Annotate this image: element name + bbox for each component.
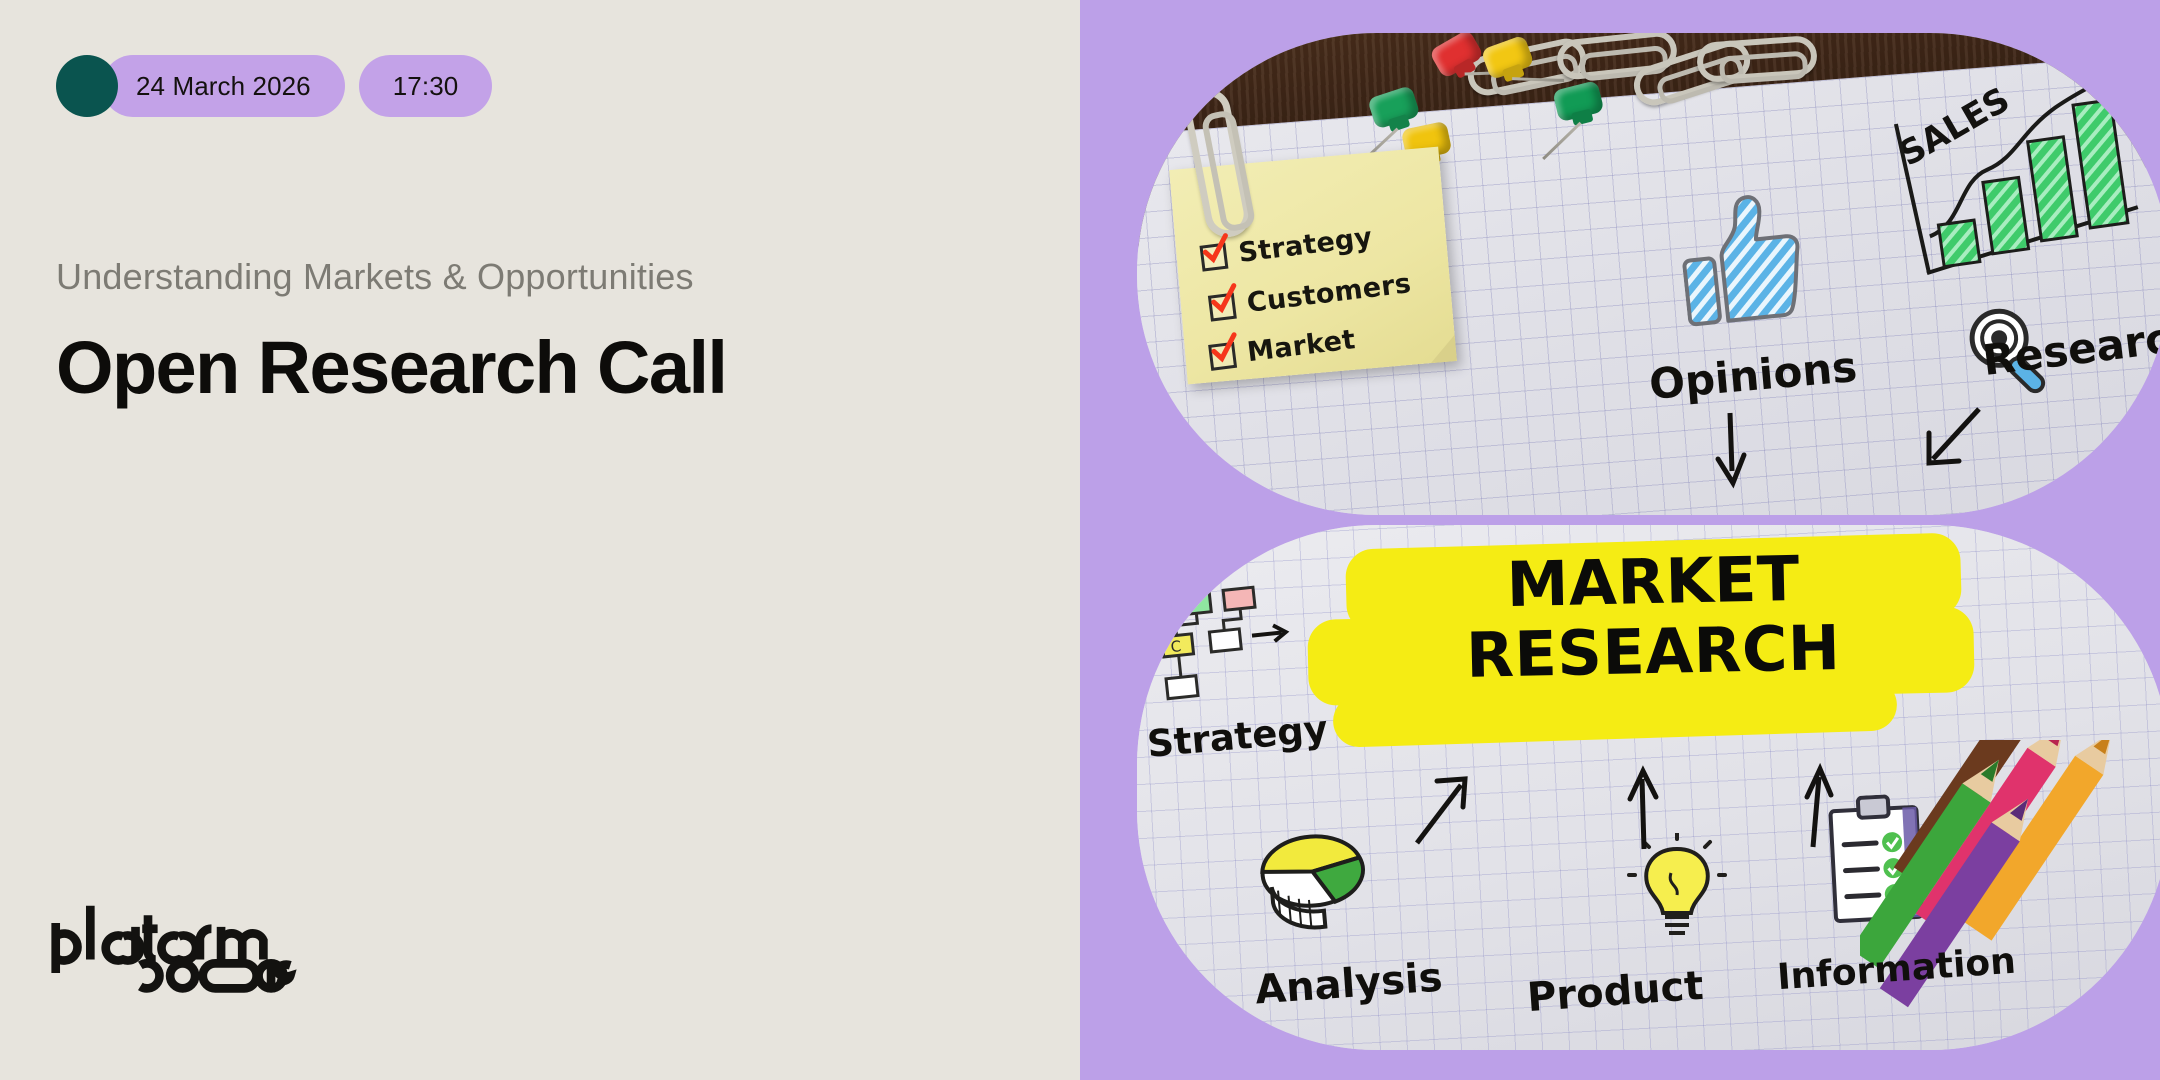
photo-top-scene: Strategy Customers Market (1137, 33, 2160, 515)
photo-bottom-market-research: MARKET RESEARCH C (1137, 525, 2160, 1050)
checkbox-checked-icon (1200, 242, 1229, 271)
photo-bottom-scene: MARKET RESEARCH C (1137, 525, 2160, 1050)
event-subtitle: Understanding Markets & Opportunities (56, 255, 1016, 298)
checklist-label: Market (1246, 324, 1358, 368)
platform-coops-logo (48, 898, 378, 994)
checklist-label: Customers (1246, 268, 1414, 319)
highlight-band: MARKET RESEARCH (1333, 551, 1973, 684)
market-research-heading: MARKET RESEARCH (1333, 551, 1973, 684)
checkbox-checked-icon (1208, 292, 1237, 321)
checkbox-checked-icon (1208, 342, 1237, 371)
sales-chart-title: SALES (1892, 80, 2016, 175)
event-time-badge: 17:30 (359, 55, 493, 117)
checklist-item: Market (1208, 324, 1357, 373)
arrow-up-icon (1624, 765, 1664, 856)
arrow-up-icon (1797, 763, 1837, 854)
left-panel: 24 March 2026 17:30 Understanding Market… (0, 0, 1080, 1080)
checklist-item: Customers (1208, 268, 1413, 324)
colored-pencils (1860, 740, 2160, 1050)
photo-top-desk-checklist: Strategy Customers Market (1137, 33, 2160, 515)
arrow-up-right-icon (1409, 773, 1479, 856)
arrow-down-left-icon (1919, 403, 1989, 478)
checklist-item: Strategy (1199, 222, 1374, 274)
event-date-badge: 24 March 2026 (102, 55, 345, 117)
checklist-label: Strategy (1237, 222, 1374, 269)
arrow-down-icon (1712, 411, 1752, 494)
brand-dot-icon (56, 55, 118, 117)
pie-chart-icon (1244, 811, 1394, 943)
flow-node-label: C (1170, 637, 1182, 656)
event-title: Open Research Call (56, 328, 1016, 408)
heading-line-2: RESEARCH (1333, 613, 1975, 691)
paperclip-icon (1696, 35, 1818, 83)
headline-block: Understanding Markets & Opportunities Op… (56, 255, 1016, 408)
flowchart-icon: C (1139, 579, 1301, 714)
thumbs-up-icon (1675, 187, 1808, 331)
sales-bar-chart: SALES (1883, 57, 2160, 305)
event-meta-row: 24 March 2026 17:30 (56, 55, 492, 117)
right-panel: Strategy Customers Market (1080, 0, 2160, 1080)
sticky-note-checklist: Strategy Customers Market (1169, 147, 1457, 385)
poster: 24 March 2026 17:30 Understanding Market… (0, 0, 2160, 1080)
